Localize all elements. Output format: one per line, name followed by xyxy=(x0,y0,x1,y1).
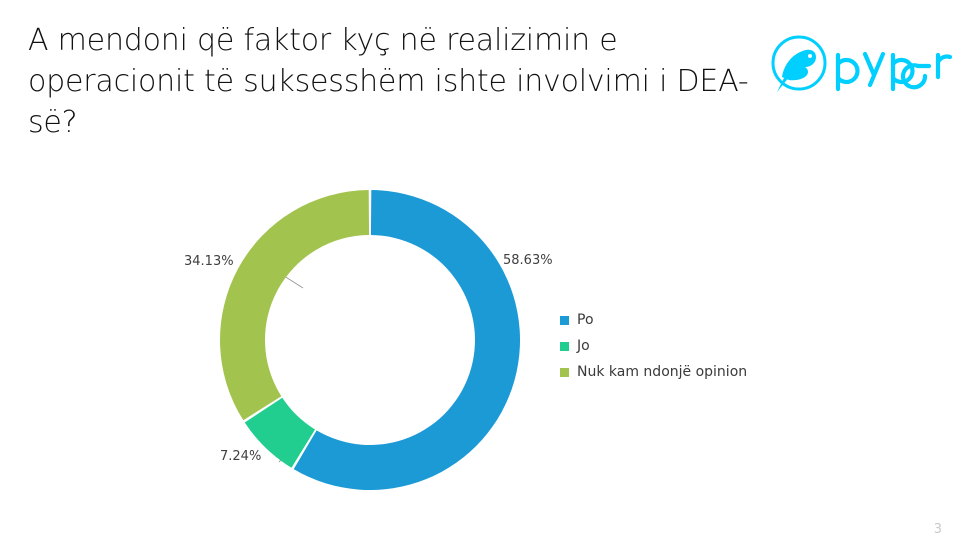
legend-item-opinion[interactable]: Nuk kam ndonjë opinion xyxy=(560,360,785,384)
page-number: 3 xyxy=(934,522,942,537)
legend-label-po: Po xyxy=(577,313,594,327)
pyper-logo-svg xyxy=(768,33,954,95)
legend-item-jo[interactable]: Jo xyxy=(560,334,785,358)
pyper-wordmark xyxy=(838,54,950,89)
page-title: A mendoni që faktor kyç në realizimin e … xyxy=(28,20,788,143)
bird-in-circle-icon xyxy=(773,37,825,92)
donut-chart-svg xyxy=(150,175,570,505)
data-label-jo: 7.24% xyxy=(220,449,261,464)
chart-legend: Po Jo Nuk kam ndonjë opinion xyxy=(560,308,785,386)
legend-swatch-opinion xyxy=(560,368,569,377)
donut-chart: 58.63% 7.24% 34.13% Po Jo Nuk kam ndonjë… xyxy=(150,175,790,505)
legend-swatch-po xyxy=(560,316,569,325)
legend-label-opinion: Nuk kam ndonjë opinion xyxy=(577,365,747,379)
pyper-logo xyxy=(768,33,954,95)
legend-swatch-jo xyxy=(560,342,569,351)
legend-item-po[interactable]: Po xyxy=(560,308,785,332)
data-label-po: 58.63% xyxy=(503,253,553,268)
legend-label-jo: Jo xyxy=(577,339,590,353)
slide-canvas: A mendoni që faktor kyç në realizimin e … xyxy=(0,0,980,551)
donut-segment-opinion[interactable] xyxy=(220,190,369,420)
data-label-opinion: 34.13% xyxy=(184,254,234,269)
